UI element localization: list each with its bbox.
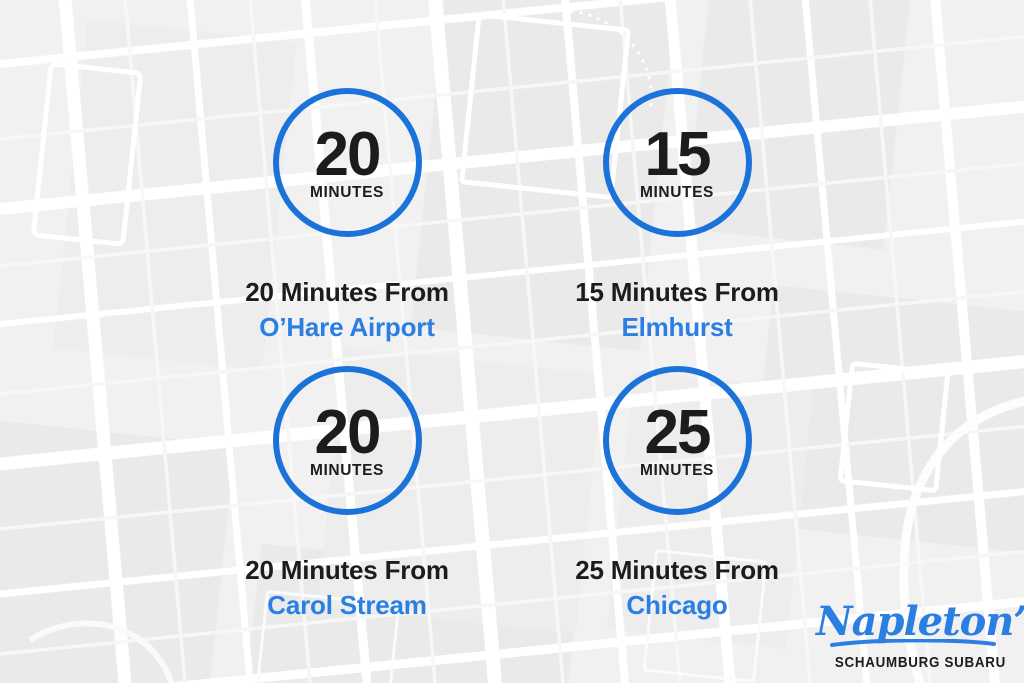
stat-caption-primary: 25 Minutes From [575,555,779,586]
stat-card-elmhurst: 15 MINUTES 15 Minutes From Elmhurst [467,88,887,342]
minutes-badge: 25 MINUTES [603,366,752,515]
stats-grid: 20 MINUTES 20 Minutes From O’Hare Airpor… [0,0,1024,683]
badge-unit-label: MINUTES [640,185,714,201]
stat-caption: 20 Minutes From Carol Stream [245,555,449,620]
minutes-badge: 15 MINUTES [603,88,752,237]
logo-subtitle: SCHAUMBURG SUBARU [831,655,1006,671]
badge-number: 20 [315,126,380,183]
stat-caption-location: O’Hare Airport [245,312,449,343]
stat-caption-location: Carol Stream [245,590,449,621]
stat-caption: 15 Minutes From Elmhurst [575,277,779,342]
stat-caption: 25 Minutes From Chicago [575,555,779,620]
stat-caption-location: Chicago [575,590,779,621]
badge-unit-label: MINUTES [310,463,384,479]
badge-number: 15 [645,126,710,183]
stat-caption-primary: 20 Minutes From [245,555,449,586]
stat-caption-location: Elmhurst [575,312,779,343]
stat-caption: 20 Minutes From O’Hare Airport [245,277,449,342]
minutes-badge: 20 MINUTES [273,366,422,515]
logo-swash-icon [816,636,1006,654]
stat-caption-primary: 15 Minutes From [575,277,779,308]
badge-unit-label: MINUTES [640,463,714,479]
stat-card-chicago: 25 MINUTES 25 Minutes From Chicago [467,366,887,620]
badge-unit-label: MINUTES [310,185,384,201]
stat-caption-primary: 20 Minutes From [245,277,449,308]
minutes-badge: 20 MINUTES [273,88,422,237]
dealer-logo[interactable]: Napleton’s SCHAUMBURG SUBARU [816,602,1006,671]
badge-number: 20 [315,404,380,461]
badge-number: 25 [645,404,710,461]
